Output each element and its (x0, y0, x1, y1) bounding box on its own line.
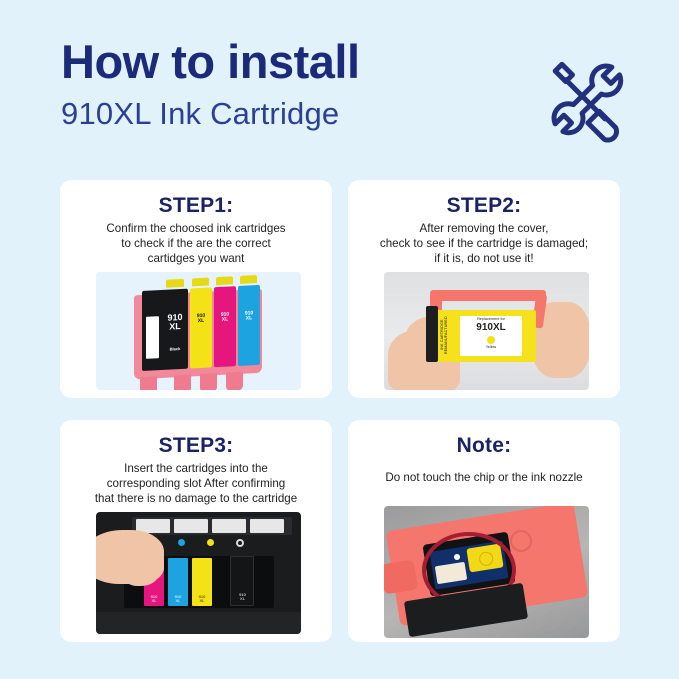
cartridge-cyan: 910XL (238, 285, 260, 366)
cartridge-black: 910XL Black (142, 289, 188, 371)
title-block: How to install 910XL Ink Cartridge (61, 38, 491, 132)
label-sub-text: Yellow (460, 345, 522, 349)
page-title: How to install (61, 38, 491, 87)
card-step2-body: After removing the cover, check to see i… (358, 222, 610, 266)
card-step1-body: Confirm the choosed ink cartridges to ch… (70, 222, 322, 266)
pressing-finger (124, 564, 158, 586)
tray-foot (174, 374, 191, 390)
card-step3-body: Insert the cartridges into the correspon… (70, 462, 322, 506)
cartridge-front-label: Replacement for 910XL Yellow (460, 316, 522, 356)
card-step3: STEP3: Insert the cartridges into the co… (60, 420, 332, 642)
label-main-text: 910XL (460, 322, 522, 334)
slot-cartridge-yellow: 910XL (192, 558, 212, 606)
cartridge-yellow: 910XL (190, 287, 212, 368)
tools-icon (536, 48, 632, 144)
card-step1-photo: 910XL Black 910XL 910XL 910XL (96, 272, 301, 390)
slot-diagram-2 (174, 519, 208, 533)
card-note-heading: Note: (356, 434, 612, 457)
cartridge-black-label (146, 316, 159, 359)
yellow-cartridge: INK CARTRIDGE REMANUFACTURED Replacement… (432, 310, 536, 362)
cartridge-magenta: 910XL (214, 286, 236, 367)
card-step2-photo: INK CARTRIDGE REMANUFACTURED Replacement… (384, 272, 589, 390)
ink-color-dot (487, 336, 495, 344)
card-step2: STEP2: After removing the cover, check t… (348, 180, 620, 398)
dot-yellow (207, 539, 214, 546)
cover-top-bar (430, 290, 546, 301)
cartridge-cap (216, 276, 233, 285)
slot-cartridge-black: 910XL (230, 556, 254, 606)
card-note-photo (384, 506, 589, 638)
cartridge-group-illustration: 910XL Black 910XL 910XL 910XL (134, 281, 266, 384)
cartridge-side-text: INK CARTRIDGE REMANUFACTURED (440, 314, 449, 356)
card-step1-heading: STEP1: (68, 194, 324, 217)
cartridge-pink-tab (384, 560, 418, 595)
slot-cartridge-cyan: 910XL (168, 558, 188, 606)
cartridge-cap (166, 279, 184, 288)
slot-diagram-3 (212, 519, 246, 533)
card-step3-heading: STEP3: (68, 434, 324, 457)
card-step3-photo: 910XL 910XL 910XL 910XL (96, 512, 301, 634)
card-note: Note: Do not touch the chip or the ink n… (348, 420, 620, 642)
tray-foot (226, 372, 243, 390)
page-header: How to install 910XL Ink Cartridge (0, 0, 679, 170)
cartridge-body-dark (426, 306, 438, 362)
cartridge-cap (192, 278, 209, 287)
card-step1: STEP1: Confirm the choosed ink cartridge… (60, 180, 332, 398)
label-top-text: Replacement for (460, 317, 522, 321)
card-step2-heading: STEP2: (356, 194, 612, 217)
cartridge-cap (240, 275, 257, 284)
tray-foot (140, 376, 157, 390)
dot-cyan (178, 539, 185, 546)
tray-foot (200, 373, 217, 390)
card-note-body: Do not touch the chip or the ink nozzle (358, 470, 610, 485)
printer-front-edge (96, 612, 301, 634)
steps-grid: STEP1: Confirm the choosed ink cartridge… (60, 180, 620, 642)
slot-diagram-4 (250, 519, 284, 533)
dot-black (236, 539, 244, 547)
page-subtitle: 910XL Ink Cartridge (61, 95, 491, 132)
